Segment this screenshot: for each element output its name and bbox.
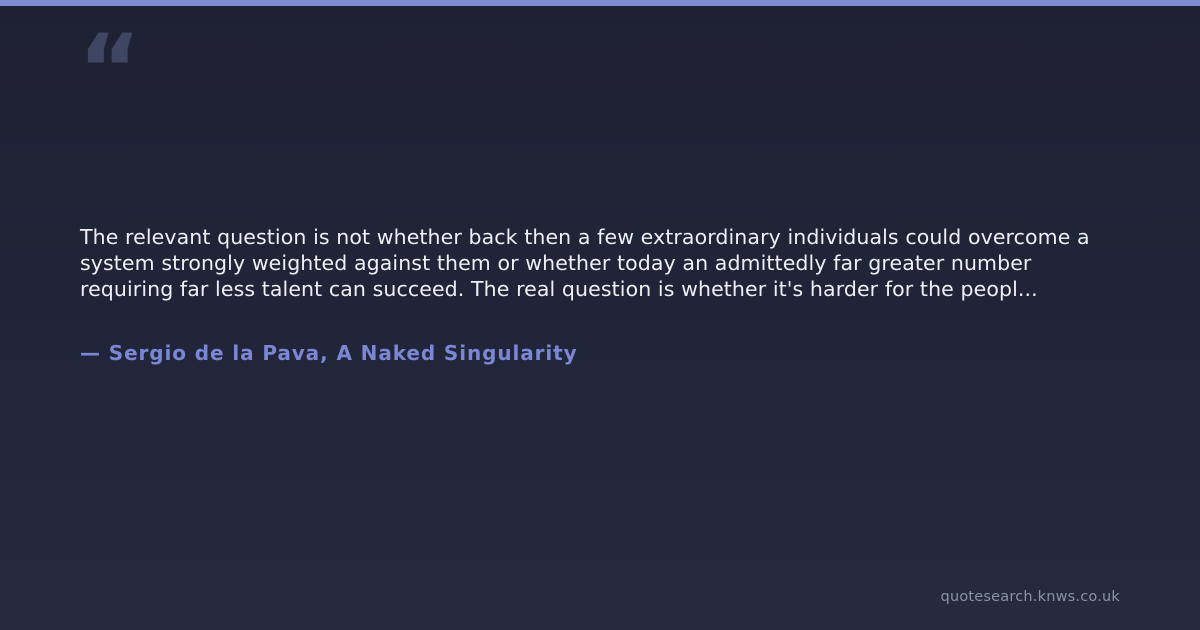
quote-card: “ The relevant question is not whether b…	[0, 0, 1200, 630]
quote-text: The relevant question is not whether bac…	[80, 224, 1090, 302]
quote-content: The relevant question is not whether bac…	[80, 224, 1090, 366]
footer-site-url: quotesearch.knws.co.uk	[941, 588, 1120, 606]
quote-attribution: — Sergio de la Pava, A Naked Singularity	[80, 302, 1090, 366]
top-accent-bar	[0, 0, 1200, 6]
open-quote-icon: “	[78, 22, 139, 118]
